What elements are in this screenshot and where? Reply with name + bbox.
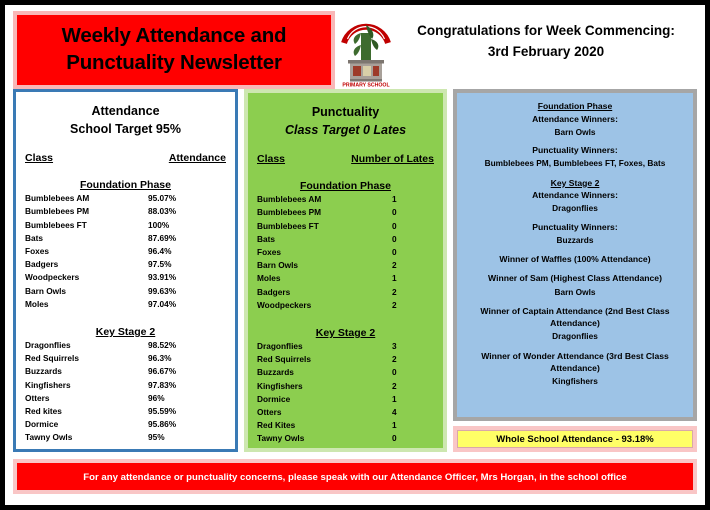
table-row: Bumblebees PM0: [257, 206, 434, 219]
table-row: Moles1: [257, 272, 434, 285]
table-row: Bats87.69%: [25, 232, 226, 245]
table-row: Woodpeckers93.91%: [25, 271, 226, 284]
winners-fp-block: Foundation Phase Attendance Winners: Bar…: [465, 100, 685, 170]
table-row: Bumblebees AM95.07%: [25, 192, 226, 205]
punctuality-col-value: Number of Lates: [351, 153, 434, 165]
footer-banner: For any attendance or punctuality concer…: [17, 463, 693, 490]
award-captain-attendance: Winner of Captain Attendance (2nd Best C…: [465, 305, 685, 343]
table-row: Dragonflies3: [257, 340, 434, 353]
punctuality-ks2-heading: Key Stage 2: [257, 327, 434, 339]
class-value: 93.91%: [148, 271, 226, 284]
class-value: 96.3%: [148, 352, 226, 365]
class-value: 96.67%: [148, 365, 226, 378]
winners-fp-heading: Foundation Phase: [465, 100, 685, 113]
attendance-heading: Attendance: [25, 102, 226, 120]
congrats-line2: 3rd February 2020: [395, 42, 697, 63]
class-name: Otters: [257, 406, 378, 419]
footer-banner-border: For any attendance or punctuality concer…: [13, 459, 697, 494]
newsletter-inner: Weekly Attendance and Punctuality Newsle…: [5, 5, 705, 505]
table-row: Dragonflies98.52%: [25, 339, 226, 352]
class-value: 88.03%: [148, 205, 226, 218]
table-row: Barn Owls2: [257, 259, 434, 272]
award-wonder-attendance: Winner of Wonder Attendance (3rd Best Cl…: [465, 350, 685, 388]
winners-fp-attendance-value: Barn Owls: [465, 126, 685, 138]
class-name: Bumblebees AM: [25, 192, 148, 205]
winners-panel-border: Foundation Phase Attendance Winners: Bar…: [453, 89, 697, 421]
school-crest-logo-icon: PRIMARY SCHOOL: [337, 13, 395, 89]
award-waffles: Winner of Waffles (100% Attendance): [465, 253, 685, 265]
newsletter-page: Weekly Attendance and Punctuality Newsle…: [0, 0, 710, 510]
page-title-line1: Weekly Attendance and: [21, 22, 327, 49]
class-value: 95%: [148, 431, 226, 444]
class-value: 0: [378, 206, 434, 219]
table-row: Red kites95.59%: [25, 405, 226, 418]
class-value: 1: [378, 193, 434, 206]
congratulations-block: Congratulations for Week Commencing: 3rd…: [395, 11, 697, 63]
punctuality-section-fp: Foundation Phase Bumblebees AM1 Bumblebe…: [257, 180, 434, 312]
table-row: Red Kites1: [257, 419, 434, 432]
class-value: 0: [378, 233, 434, 246]
award-title: Winner of Wonder Attendance (3rd Best Cl…: [465, 350, 685, 374]
class-name: Badgers: [25, 258, 148, 271]
class-name: Foxes: [257, 246, 378, 259]
class-name: Red Squirrels: [257, 353, 378, 366]
class-value: 96%: [148, 392, 226, 405]
table-row: Buzzards0: [257, 366, 434, 379]
class-name: Buzzards: [257, 366, 378, 379]
class-name: Badgers: [257, 286, 378, 299]
class-name: Otters: [25, 392, 148, 405]
class-value: 98.52%: [148, 339, 226, 352]
class-name: Bumblebees AM: [257, 193, 378, 206]
class-value: 87.69%: [148, 232, 226, 245]
class-value: 2: [378, 299, 434, 312]
class-value: 3: [378, 340, 434, 353]
punctuality-column-headers: Class Number of Lates: [257, 153, 434, 165]
table-row: Red Squirrels96.3%: [25, 352, 226, 365]
table-row: Moles97.04%: [25, 298, 226, 311]
table-row: Woodpeckers2: [257, 299, 434, 312]
table-row: Badgers2: [257, 286, 434, 299]
class-name: Red Kites: [257, 419, 378, 432]
table-row: Tawny Owls95%: [25, 431, 226, 444]
title-banner-inner: Weekly Attendance and Punctuality Newsle…: [17, 15, 331, 85]
class-value: 96.4%: [148, 245, 226, 258]
punctuality-subheading: Class Target 0 Lates: [257, 121, 434, 139]
winners-fp-punctuality-value: Bumblebees PM, Bumblebees FT, Foxes, Bat…: [465, 157, 685, 169]
class-name: Moles: [257, 272, 378, 285]
class-name: Dragonflies: [257, 340, 378, 353]
table-row: Dormice1: [257, 393, 434, 406]
punctuality-panel: Punctuality Class Target 0 Lates Class N…: [248, 93, 443, 448]
class-name: Barn Owls: [257, 259, 378, 272]
winners-panel: Foundation Phase Attendance Winners: Bar…: [457, 93, 693, 417]
class-name: Red kites: [25, 405, 148, 418]
panels-row: Attendance School Target 95% Class Atten…: [13, 89, 697, 452]
class-value: 97.83%: [148, 379, 226, 392]
class-value: 99.63%: [148, 285, 226, 298]
award-value: Kingfishers: [465, 375, 685, 387]
table-row: Bumblebees PM88.03%: [25, 205, 226, 218]
class-name: Buzzards: [25, 365, 148, 378]
winners-ks2-punctuality-label: Punctuality Winners:: [465, 221, 685, 234]
svg-text:PRIMARY SCHOOL: PRIMARY SCHOOL: [342, 83, 390, 89]
table-row: Bumblebees FT100%: [25, 219, 226, 232]
punctuality-section-ks2: Key Stage 2 Dragonflies3 Red Squirrels2 …: [257, 327, 434, 446]
whole-school-attendance-label: Whole School Attendance - 93.18%: [496, 434, 653, 445]
winners-ks2-attendance-label: Attendance Winners:: [465, 189, 685, 202]
attendance-section-fp: Foundation Phase Bumblebees AM95.07% Bum…: [25, 179, 226, 311]
class-name: Dormice: [25, 418, 148, 431]
table-row: Buzzards96.67%: [25, 365, 226, 378]
table-row: Otters96%: [25, 392, 226, 405]
page-title-line2: Punctuality Newsletter: [21, 49, 327, 76]
class-name: Woodpeckers: [257, 299, 378, 312]
table-row: Barn Owls99.63%: [25, 285, 226, 298]
class-value: 0: [378, 366, 434, 379]
class-name: Woodpeckers: [25, 271, 148, 284]
class-value: 0: [378, 432, 434, 445]
class-value: 95.07%: [148, 192, 226, 205]
class-value: 0: [378, 246, 434, 259]
class-value: 2: [378, 286, 434, 299]
table-row: Bumblebees FT0: [257, 220, 434, 233]
table-row: Otters4: [257, 406, 434, 419]
winners-ks2-punctuality-value: Buzzards: [465, 234, 685, 246]
punctuality-fp-heading: Foundation Phase: [257, 180, 434, 192]
class-name: Dormice: [257, 393, 378, 406]
school-crest-svg: PRIMARY SCHOOL: [337, 13, 395, 89]
class-name: Red Squirrels: [25, 352, 148, 365]
class-value: 97.04%: [148, 298, 226, 311]
punctuality-panel-border: Punctuality Class Target 0 Lates Class N…: [244, 89, 447, 452]
class-name: Foxes: [25, 245, 148, 258]
class-name: Bumblebees PM: [257, 206, 378, 219]
table-row: Foxes0: [257, 246, 434, 259]
table-row: Bumblebees AM1: [257, 193, 434, 206]
class-value: 1: [378, 272, 434, 285]
attendance-ks2-heading: Key Stage 2: [25, 326, 226, 338]
table-row: Red Squirrels2: [257, 353, 434, 366]
class-name: Bumblebees FT: [257, 220, 378, 233]
class-value: 0: [378, 220, 434, 233]
award-title: Winner of Sam (Highest Class Attendance): [465, 272, 685, 284]
class-name: Bats: [25, 232, 148, 245]
table-row: Foxes96.4%: [25, 245, 226, 258]
award-value: Dragonflies: [465, 330, 685, 342]
class-name: Tawny Owls: [25, 431, 148, 444]
footer-text: For any attendance or punctuality concer…: [83, 472, 626, 483]
congrats-line1: Congratulations for Week Commencing:: [395, 21, 697, 42]
award-value: Barn Owls: [465, 286, 685, 298]
award-title: Winner of Waffles (100% Attendance): [465, 253, 685, 265]
table-row: Dormice95.86%: [25, 418, 226, 431]
class-value: 100%: [148, 219, 226, 232]
class-value: 2: [378, 353, 434, 366]
winners-ks2-attendance-value: Dragonflies: [465, 202, 685, 214]
winners-column: Foundation Phase Attendance Winners: Bar…: [453, 89, 697, 452]
class-value: 2: [378, 380, 434, 393]
award-sam: Winner of Sam (Highest Class Attendance)…: [465, 272, 685, 298]
award-title: Winner of Captain Attendance (2nd Best C…: [465, 305, 685, 329]
table-row: Kingfishers2: [257, 380, 434, 393]
attendance-panel: Attendance School Target 95% Class Atten…: [13, 89, 238, 452]
whole-school-attendance-box: Whole School Attendance - 93.18%: [457, 430, 693, 448]
table-row: Tawny Owls0: [257, 432, 434, 445]
class-name: Kingfishers: [257, 380, 378, 393]
attendance-section-ks2: Key Stage 2 Dragonflies98.52% Red Squirr…: [25, 326, 226, 445]
punctuality-col-class: Class: [257, 153, 351, 165]
table-row: Bats0: [257, 233, 434, 246]
class-value: 1: [378, 393, 434, 406]
winners-ks2-heading: Key Stage 2: [465, 177, 685, 190]
class-name: Bats: [257, 233, 378, 246]
class-name: Moles: [25, 298, 148, 311]
class-value: 1: [378, 419, 434, 432]
class-name: Kingfishers: [25, 379, 148, 392]
attendance-subheading: School Target 95%: [25, 120, 226, 138]
attendance-col-class: Class: [25, 152, 169, 164]
class-name: Dragonflies: [25, 339, 148, 352]
attendance-col-value: Attendance: [169, 152, 226, 164]
table-row: Badgers97.5%: [25, 258, 226, 271]
whole-school-attendance-border: Whole School Attendance - 93.18%: [453, 426, 697, 452]
class-name: Barn Owls: [25, 285, 148, 298]
header: Weekly Attendance and Punctuality Newsle…: [13, 11, 697, 89]
attendance-fp-heading: Foundation Phase: [25, 179, 226, 191]
class-value: 4: [378, 406, 434, 419]
winners-fp-punctuality-label: Punctuality Winners:: [465, 144, 685, 157]
winners-fp-attendance-label: Attendance Winners:: [465, 113, 685, 126]
title-banner: Weekly Attendance and Punctuality Newsle…: [13, 11, 335, 89]
attendance-column-headers: Class Attendance: [25, 152, 226, 164]
class-value: 97.5%: [148, 258, 226, 271]
winners-ks2-block: Key Stage 2 Attendance Winners: Dragonfl…: [465, 177, 685, 247]
class-value: 95.59%: [148, 405, 226, 418]
class-name: Bumblebees FT: [25, 219, 148, 232]
table-row: Kingfishers97.83%: [25, 379, 226, 392]
class-value: 95.86%: [148, 418, 226, 431]
punctuality-heading: Punctuality: [257, 103, 434, 121]
class-value: 2: [378, 259, 434, 272]
class-name: Bumblebees PM: [25, 205, 148, 218]
class-name: Tawny Owls: [257, 432, 378, 445]
